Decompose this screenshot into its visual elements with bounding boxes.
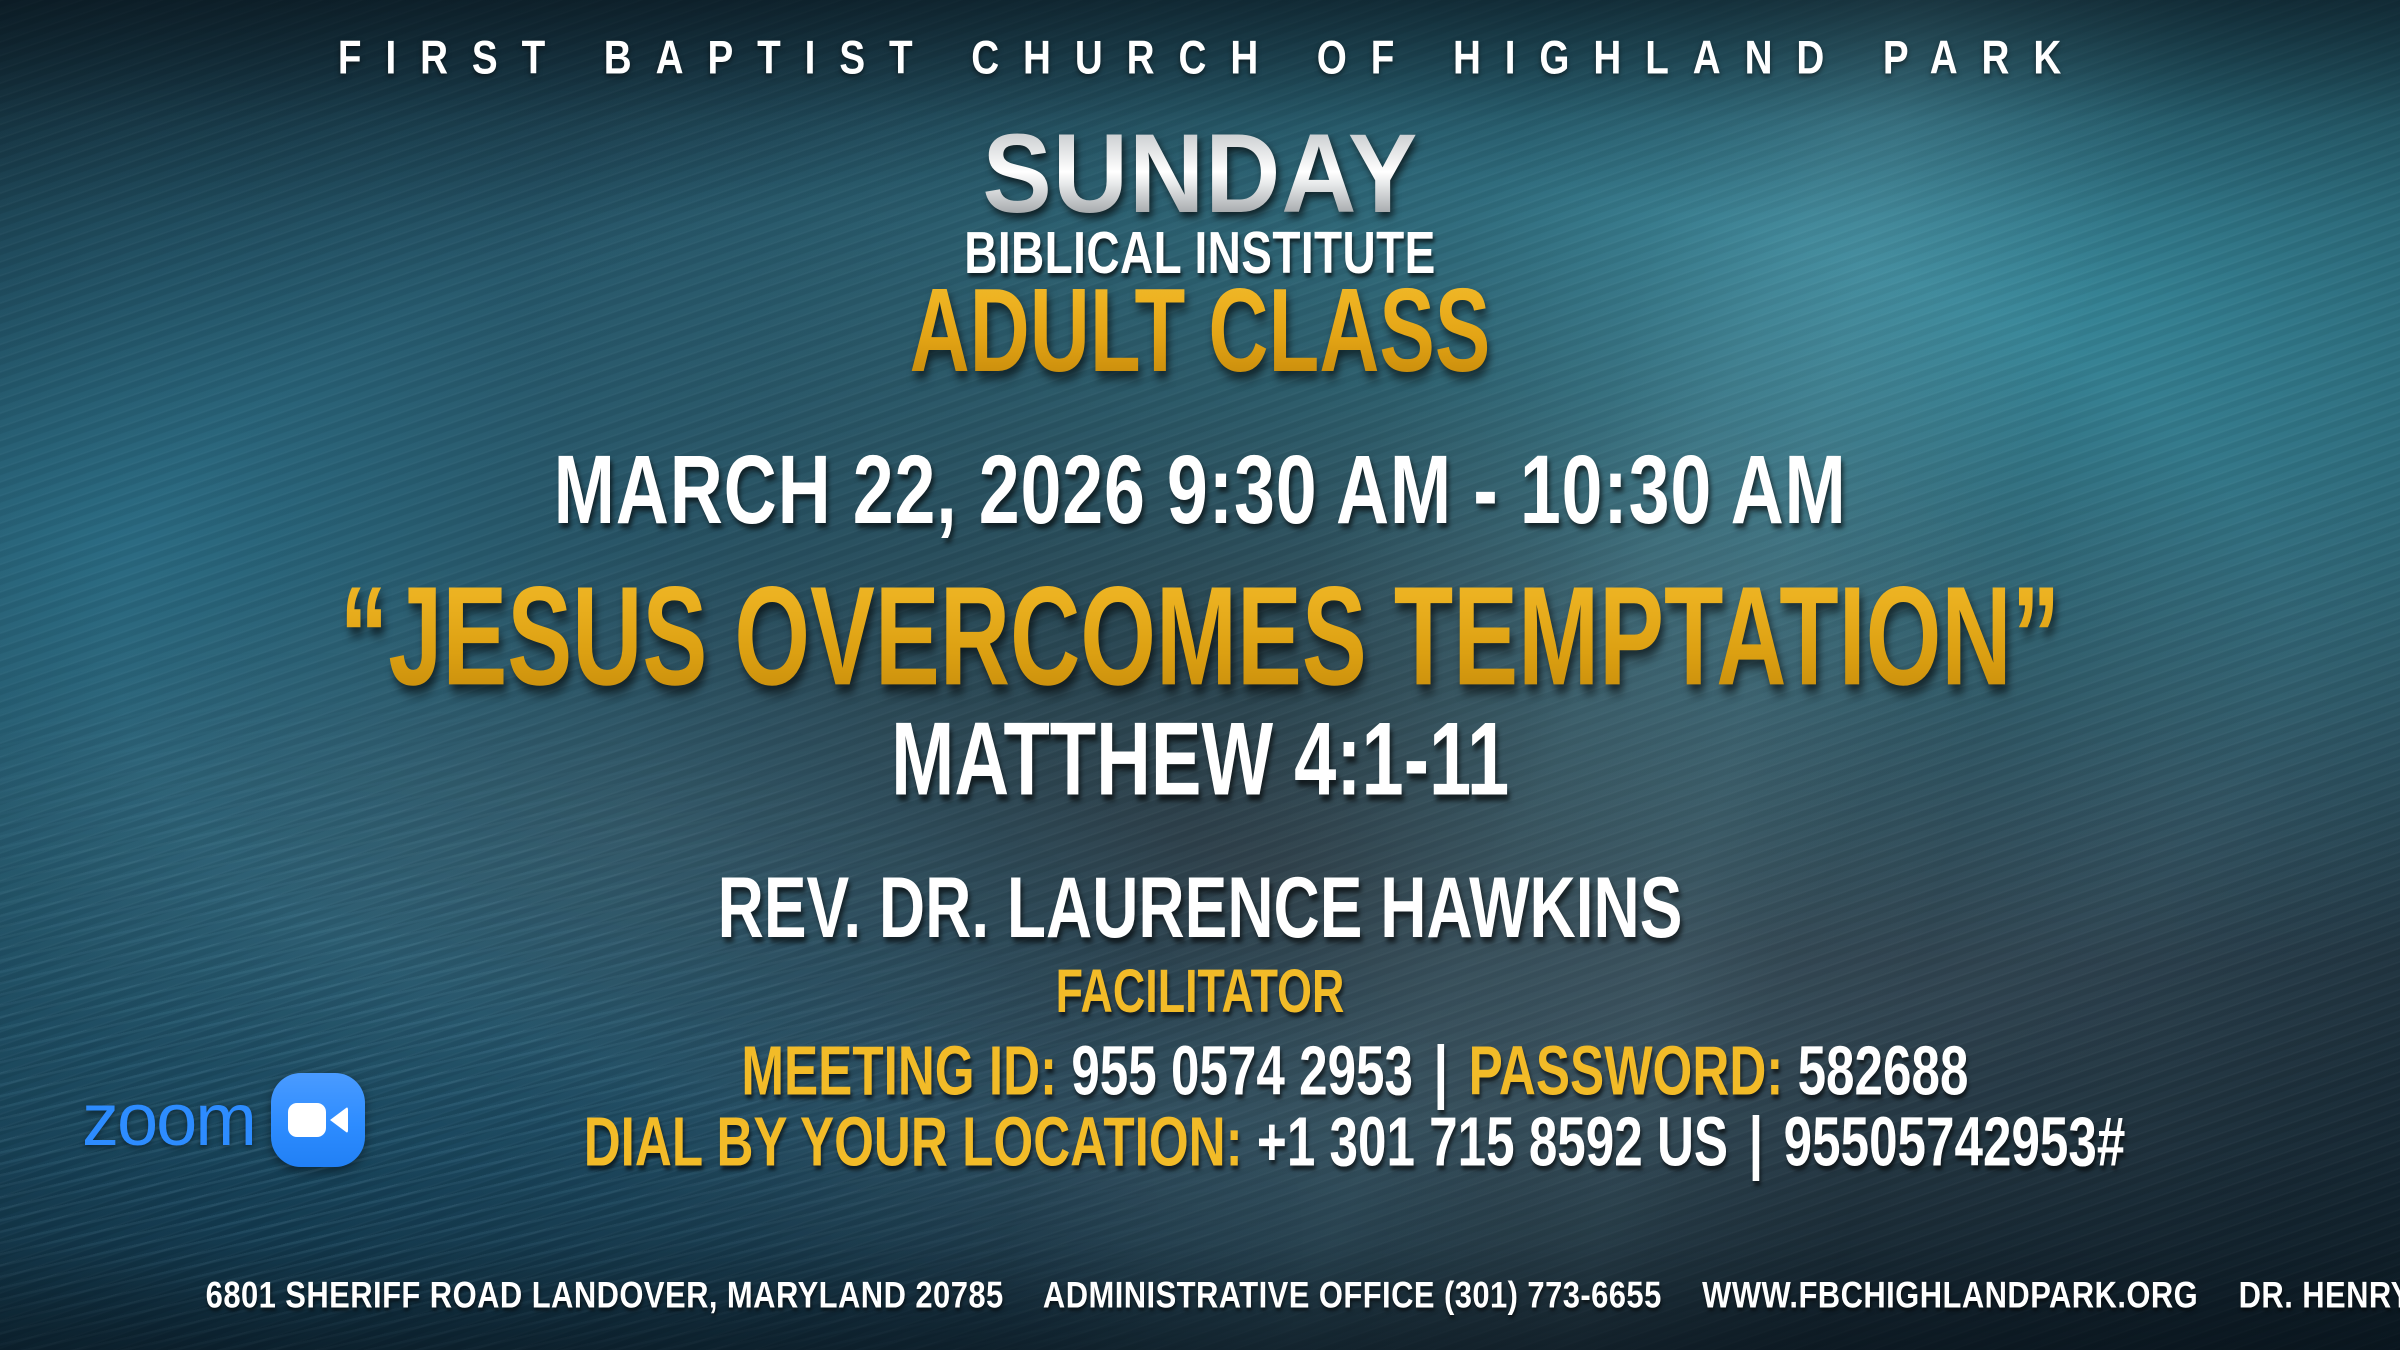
flyer-content: FIRST BAPTIST CHURCH OF HIGHLAND PARK SU…: [0, 0, 2400, 1350]
scripture-reference: MATTHEW 4:1-11: [891, 701, 1509, 820]
dial-number: +1 301 715 8592 US: [1257, 1103, 1728, 1181]
sermon-title-row: “JESUS OVERCOMES TEMPTATION”: [0, 563, 2400, 710]
dial-divider: |: [1742, 1103, 1769, 1181]
facilitator-block: REV. DR. LAURENCE HAWKINS FACILITATOR: [0, 862, 2400, 1023]
dial-in-line: DIAL BY YOUR LOCATION: +1 301 715 8592 U…: [584, 1106, 2126, 1178]
zoom-meeting-text: MEETING ID: 955 0574 2953 | PASSWORD: 58…: [391, 1038, 2318, 1175]
dial-meeting-code: 95505742953#: [1784, 1103, 2126, 1181]
meeting-id-label: MEETING ID:: [741, 1032, 1057, 1110]
meeting-id-value: 955 0574 2953: [1071, 1032, 1413, 1110]
header-bar: FIRST BAPTIST CHURCH OF HIGHLAND PARK: [0, 34, 2400, 82]
event-logo-block: SUNDAY BIBLICAL INSTITUTE ADULT CLASS: [0, 118, 2400, 383]
zoom-logo: zoom: [82, 1073, 365, 1167]
logo-line-sunday: SUNDAY: [982, 118, 1418, 230]
flyer-canvas: FIRST BAPTIST CHURCH OF HIGHLAND PARK SU…: [0, 0, 2400, 1350]
logo-line-adult-class: ADULT CLASS: [240, 272, 2160, 391]
footer-website: WWW.FBCHIGHLANDPARK.ORG: [1702, 1273, 2198, 1316]
scripture-row: MATTHEW 4:1-11: [0, 705, 2400, 815]
zoom-wordmark: zoom: [82, 1083, 255, 1157]
meeting-divider: |: [1427, 1032, 1454, 1110]
event-datetime: MARCH 22, 2026 9:30 AM - 10:30 AM: [553, 435, 1846, 546]
facilitator-role: FACILITATOR: [240, 955, 2160, 1027]
zoom-details-row: zoom MEETING ID: 955 0574 2953 | PASSWOR…: [0, 1038, 2400, 1175]
dial-label: DIAL BY YOUR LOCATION:: [584, 1103, 1243, 1181]
footer-bar: 6801 SHERIFF ROAD LANDOVER, MARYLAND 207…: [0, 1274, 2400, 1316]
sermon-title: “JESUS OVERCOMES TEMPTATION”: [340, 556, 2061, 718]
event-datetime-row: MARCH 22, 2026 9:30 AM - 10:30 AM: [0, 438, 2400, 543]
zoom-video-camera-icon: [271, 1073, 365, 1167]
church-name: FIRST BAPTIST CHURCH OF HIGHLAND PARK: [314, 31, 2085, 85]
password-value: 582688: [1797, 1032, 1968, 1110]
footer-pastor: DR. HENRY P. DAVIS III, PASTOR: [2239, 1273, 2400, 1316]
facilitator-name: REV. DR. LAURENCE HAWKINS: [718, 858, 1683, 957]
footer-address: 6801 SHERIFF ROAD LANDOVER, MARYLAND 207…: [206, 1273, 1004, 1316]
footer-line: 6801 SHERIFF ROAD LANDOVER, MARYLAND 207…: [206, 1273, 2400, 1317]
meeting-id-line: MEETING ID: 955 0574 2953 | PASSWORD: 58…: [741, 1035, 1968, 1107]
footer-office: ADMINISTRATIVE OFFICE (301) 773-6655: [1043, 1273, 1662, 1316]
password-label: PASSWORD:: [1468, 1032, 1783, 1110]
